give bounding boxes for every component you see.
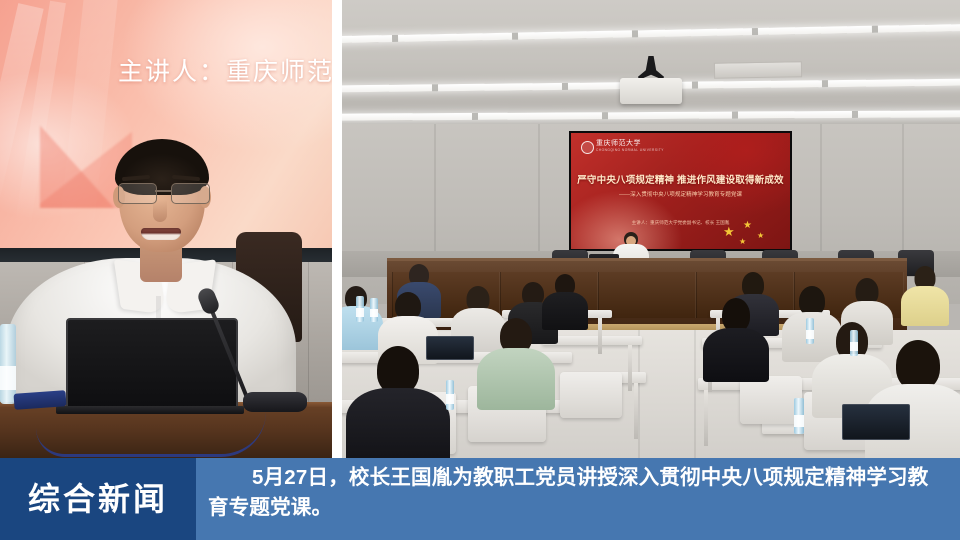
projection-screen: 重庆师范大学 CHONGQING NORMAL UNIVERSITY 严守中央八… xyxy=(571,133,790,249)
ceiling-vent xyxy=(714,61,802,79)
star-icon: ★ xyxy=(723,227,735,237)
water-bottle-label xyxy=(0,366,16,390)
water-bottle xyxy=(806,318,814,344)
desk-leg xyxy=(704,390,708,446)
eyeglass-lens-right xyxy=(171,183,210,204)
university-logo-subtext: CHONGQING NORMAL UNIVERSITY xyxy=(596,148,664,152)
desk-leg xyxy=(628,345,632,391)
eyeglass-bridge xyxy=(155,190,171,192)
ceiling-projector xyxy=(620,78,682,104)
university-logo-mark xyxy=(581,141,594,154)
audience-member xyxy=(362,346,434,458)
audience-member xyxy=(488,318,544,404)
photo-strip: 主讲人：重庆师范 xyxy=(0,0,960,458)
podium-panel xyxy=(598,272,696,318)
classroom-chair xyxy=(560,372,622,418)
audience-member xyxy=(908,266,942,318)
water-bottle xyxy=(0,324,16,404)
audience-member xyxy=(548,274,582,324)
photo-lecture-hall: 重庆师范大学 CHONGQING NORMAL UNIVERSITY 严守中央八… xyxy=(342,0,960,458)
desk-leg xyxy=(598,318,602,354)
water-bottle xyxy=(850,330,858,356)
star-icon: ★ xyxy=(739,237,746,247)
slide-speaker-line: 主讲人：重庆师范 xyxy=(118,57,332,87)
audience-member xyxy=(712,298,760,372)
slide-title: 严守中央八项规定精神 推进作风建设取得新成效 xyxy=(571,175,790,187)
microphone-base xyxy=(243,392,307,412)
attendee-laptop xyxy=(842,404,910,440)
caption-bar: 综合新闻 5月27日，校长王国胤为教职工党员讲授深入贯彻中央八项规定精神学习教育… xyxy=(0,458,960,540)
attendee-laptop xyxy=(426,336,474,360)
speaker-mouth xyxy=(141,228,181,240)
audience-member xyxy=(882,340,954,458)
caption-text: 5月27日，校长王国胤为教职工党员讲授深入贯彻中央八项规定精神学习教育专题党课。 xyxy=(208,463,948,523)
slide-byline: 主讲人：重庆师范大学党委副书记、校长 王国胤 xyxy=(571,219,790,226)
news-photo-card: 主讲人：重庆师范 xyxy=(0,0,960,540)
water-bottle xyxy=(370,298,378,322)
university-logo: 重庆师范大学 CHONGQING NORMAL UNIVERSITY xyxy=(581,140,643,153)
photo-speaker-at-podium: 主讲人：重庆师范 xyxy=(0,0,332,458)
desk-cable xyxy=(36,412,266,457)
classroom-chair xyxy=(740,376,802,424)
laptop-screen xyxy=(66,318,238,412)
eyeglass-lens-left xyxy=(118,183,157,204)
desk-leg xyxy=(634,383,638,439)
category-badge[interactable]: 综合新闻 xyxy=(0,458,196,540)
aisle-line xyxy=(694,330,696,458)
star-icon: ★ xyxy=(743,221,752,231)
water-bottle xyxy=(794,398,804,434)
water-bottle xyxy=(446,380,454,410)
star-icon: ★ xyxy=(757,231,764,241)
speaker-nose xyxy=(153,200,167,222)
water-bottle xyxy=(356,296,364,322)
category-badge-label: 综合新闻 xyxy=(28,482,168,516)
aisle-line xyxy=(638,330,640,458)
slide-subtitle: ——深入贯彻中央八项规定精神学习教育专题党课 xyxy=(571,191,790,199)
university-logo-text: 重庆师范大学 xyxy=(596,140,641,148)
photo-divider xyxy=(332,0,342,458)
